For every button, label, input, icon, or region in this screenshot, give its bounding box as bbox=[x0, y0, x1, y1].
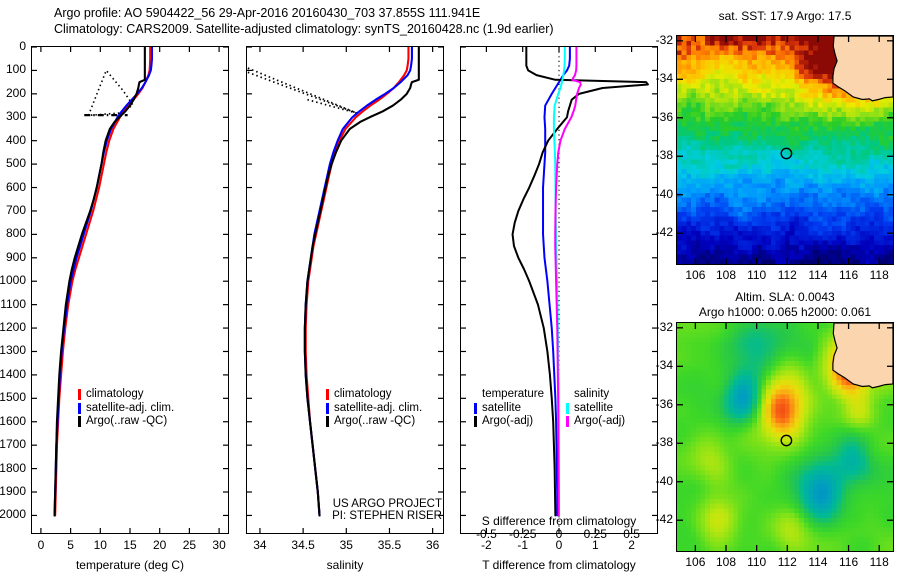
tick-label: -40 bbox=[641, 187, 673, 201]
legend-color-swatch bbox=[474, 416, 477, 427]
project-credit-line2: PI: STEPHEN RISER bbox=[274, 510, 442, 522]
tick-label: -38 bbox=[641, 148, 673, 162]
tick-label: 300 bbox=[0, 109, 26, 123]
salinity-profile-panel bbox=[246, 46, 444, 534]
legend-label: satellite bbox=[482, 402, 521, 416]
legend-label: Argo(-adj) bbox=[574, 415, 625, 429]
temperature-axis-label: temperature (deg C) bbox=[31, 558, 229, 572]
legend-label: climatology bbox=[334, 388, 392, 402]
tick-label: -32 bbox=[641, 33, 673, 47]
tick-label: 800 bbox=[0, 226, 26, 240]
tick-label: 2 bbox=[602, 538, 662, 552]
legend-item: satellite-adj. clim. bbox=[78, 402, 174, 416]
legend-label: satellite-adj. clim. bbox=[86, 402, 174, 416]
legend-label: climatology bbox=[86, 388, 144, 402]
tick-label: -38 bbox=[641, 435, 673, 449]
tick-label: 400 bbox=[0, 133, 26, 147]
difference-salinity-axis-label: S difference from climatology bbox=[460, 514, 658, 528]
legend-color-swatch bbox=[566, 403, 569, 414]
sla-map bbox=[677, 323, 893, 551]
sst-map-panel bbox=[676, 35, 894, 265]
figure-title-line1: Argo profile: AO 5904422_56 29-Apr-2016 … bbox=[54, 6, 480, 20]
legend-header: salinity bbox=[566, 388, 625, 402]
legend-color-swatch bbox=[474, 403, 477, 414]
legend-color-swatch bbox=[78, 389, 81, 400]
legend-item: satellite bbox=[474, 402, 544, 416]
legend-item: climatology bbox=[326, 388, 422, 402]
legend-color-swatch bbox=[326, 389, 329, 400]
legend-item: Argo(-adj) bbox=[566, 415, 625, 429]
tick-label: 600 bbox=[0, 180, 26, 194]
legend-color-swatch bbox=[326, 416, 329, 427]
sst-map-title: sat. SST: 17.9 Argo: 17.5 bbox=[676, 9, 894, 23]
tick-label: 118 bbox=[854, 268, 900, 282]
tick-label: 1400 bbox=[0, 367, 26, 381]
tick-label: 2000 bbox=[0, 507, 26, 521]
temperature-plot bbox=[32, 47, 228, 533]
tick-label: 36 bbox=[403, 538, 463, 552]
project-credit: US ARGO PROJECT PI: STEPHEN RISER bbox=[274, 498, 442, 522]
tick-label: 1700 bbox=[0, 437, 26, 451]
legend-label: satellite-adj. clim. bbox=[334, 402, 422, 416]
difference-salinity-legend: salinitysatelliteArgo(-adj) bbox=[566, 388, 625, 429]
tick-label: 900 bbox=[0, 250, 26, 264]
salinity-plot bbox=[247, 47, 443, 533]
sla-map-panel bbox=[676, 322, 894, 552]
tick-label: 100 bbox=[0, 62, 26, 76]
tick-label: 1300 bbox=[0, 343, 26, 357]
tick-label: -36 bbox=[641, 397, 673, 411]
legend-item: Argo(..raw -QC) bbox=[326, 415, 422, 429]
sla-map-title-line2: Argo h1000: 0.065 h2000: 0.061 bbox=[656, 305, 900, 319]
difference-profile-panel bbox=[460, 46, 658, 534]
tick-label: 0 bbox=[0, 39, 26, 53]
legend-item: Argo(..raw -QC) bbox=[78, 415, 174, 429]
legend-item: satellite bbox=[566, 402, 625, 416]
tick-label: 200 bbox=[0, 86, 26, 100]
legend-color-swatch bbox=[326, 403, 329, 414]
salinity-legend: climatologysatellite-adj. clim.Argo(..ra… bbox=[326, 388, 422, 429]
legend-label: Argo(..raw -QC) bbox=[334, 415, 415, 429]
tick-label: 700 bbox=[0, 203, 26, 217]
tick-label: 500 bbox=[0, 156, 26, 170]
tick-label: -34 bbox=[641, 71, 673, 85]
legend-item: climatology bbox=[78, 388, 174, 402]
legend-label: Argo(..raw -QC) bbox=[86, 415, 167, 429]
project-credit-line1: US ARGO PROJECT bbox=[274, 498, 442, 510]
tick-label: 118 bbox=[854, 555, 900, 569]
tick-label: 1500 bbox=[0, 390, 26, 404]
legend-color-swatch bbox=[78, 403, 81, 414]
legend-item: Argo(-adj) bbox=[474, 415, 544, 429]
tick-label: -42 bbox=[641, 512, 673, 526]
legend-color-swatch bbox=[566, 416, 569, 427]
legend-item: satellite-adj. clim. bbox=[326, 402, 422, 416]
temperature-profile-panel bbox=[31, 46, 229, 534]
difference-temperature-legend: temperaturesatelliteArgo(-adj) bbox=[474, 388, 544, 429]
sst-map bbox=[677, 36, 893, 264]
legend-header: temperature bbox=[474, 388, 544, 402]
tick-label: -36 bbox=[641, 110, 673, 124]
figure-title-line2: Climatology: CARS2009. Satellite-adjuste… bbox=[54, 22, 554, 36]
tick-label: 1200 bbox=[0, 320, 26, 334]
tick-label: -32 bbox=[641, 320, 673, 334]
tick-label: 1100 bbox=[0, 297, 26, 311]
difference-plot bbox=[461, 47, 657, 533]
legend-label: Argo(-adj) bbox=[482, 415, 533, 429]
difference-temperature-axis-label: T difference from climatology bbox=[460, 558, 658, 572]
tick-label: 1900 bbox=[0, 484, 26, 498]
tick-label: -34 bbox=[641, 358, 673, 372]
tick-label: -40 bbox=[641, 474, 673, 488]
tick-label: 1600 bbox=[0, 414, 26, 428]
temperature-legend: climatologysatellite-adj. clim.Argo(..ra… bbox=[78, 388, 174, 429]
tick-label: 1800 bbox=[0, 461, 26, 475]
salinity-axis-label: salinity bbox=[246, 558, 444, 572]
tick-label: -42 bbox=[641, 225, 673, 239]
legend-color-swatch bbox=[78, 416, 81, 427]
legend-label: satellite bbox=[574, 402, 613, 416]
sla-map-title-line1: Altim. SLA: 0.0043 bbox=[676, 290, 894, 304]
tick-label: 1000 bbox=[0, 273, 26, 287]
